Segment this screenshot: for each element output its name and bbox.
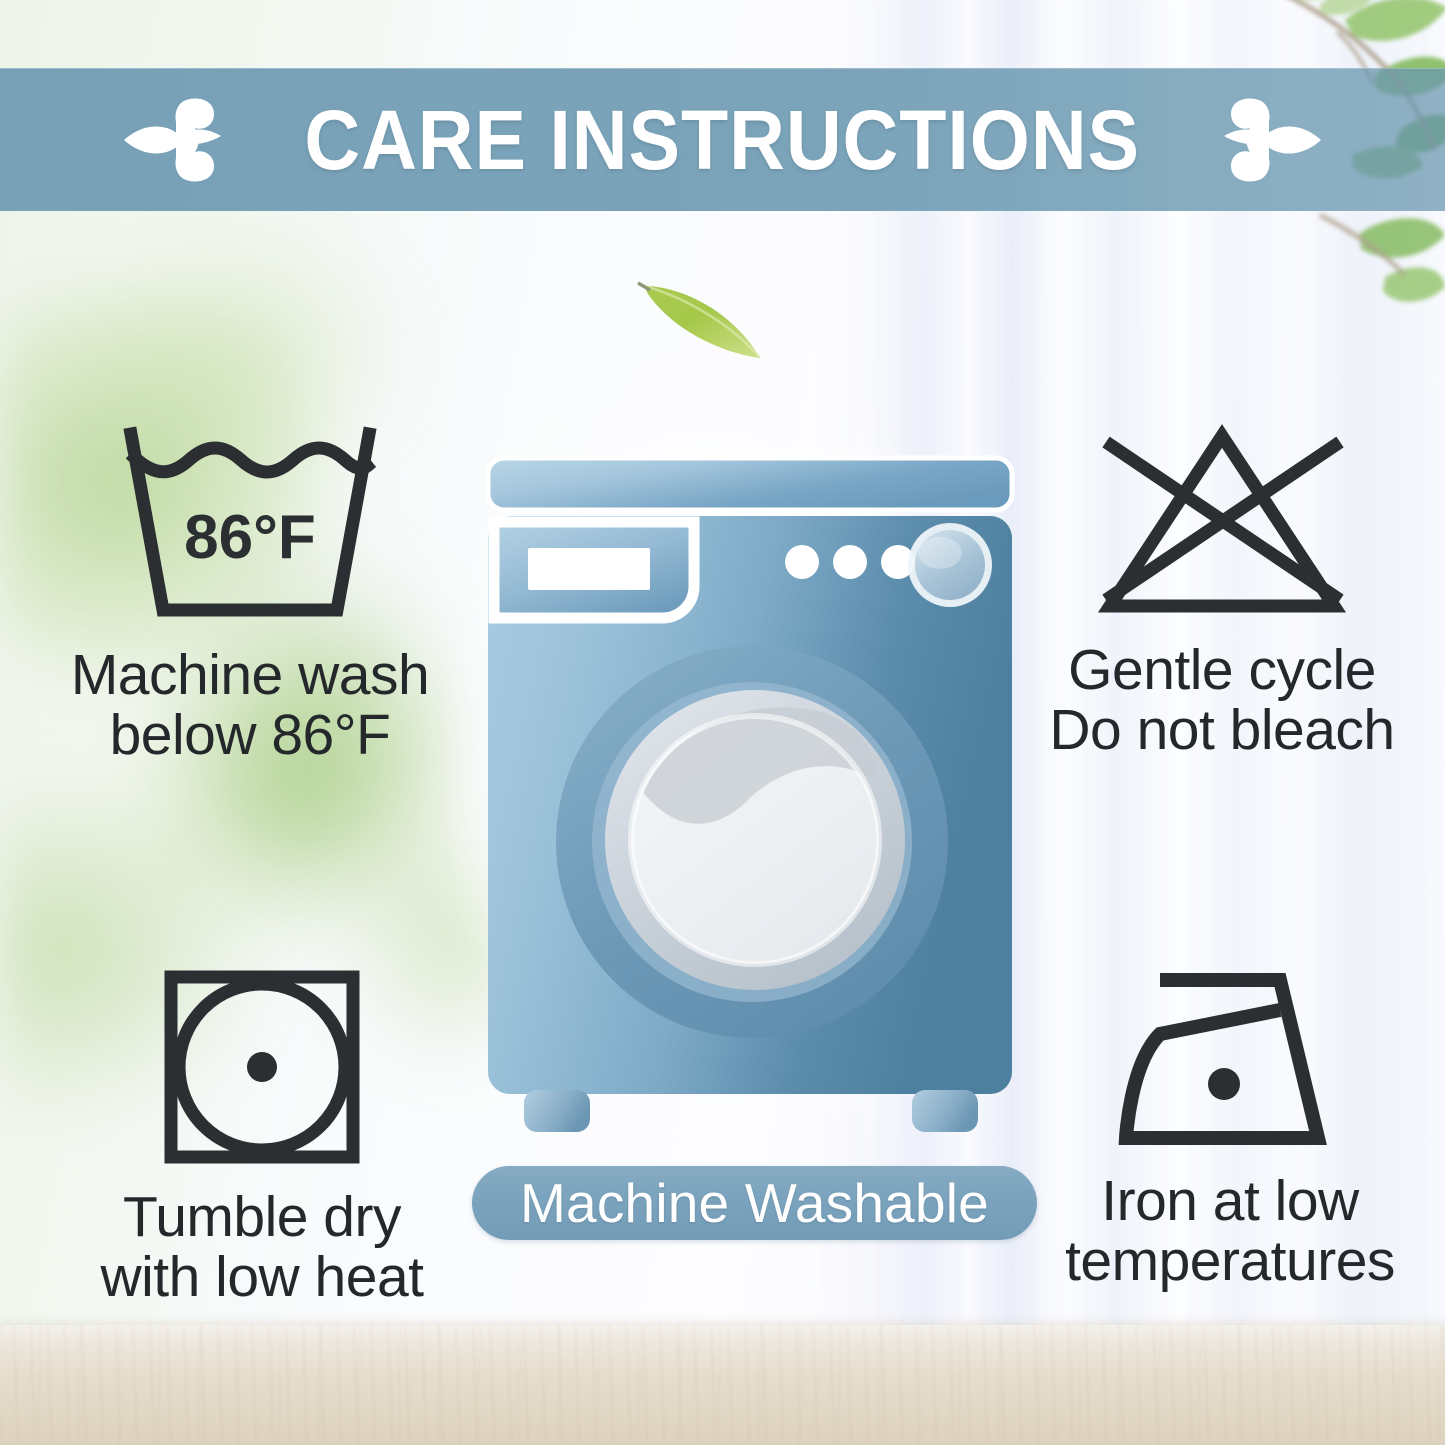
iron-icon xyxy=(1112,968,1348,1155)
leafy-branch-lower-icon xyxy=(1265,195,1445,315)
fleur-de-lis-ornament-right-icon xyxy=(1203,94,1323,186)
care-instructions-infographic: CARE INSTRUCTIONS xyxy=(0,0,1445,1445)
wash-temperature-value: 86°F xyxy=(184,503,316,572)
detergent-drawer-handle xyxy=(528,548,650,590)
wash-tub-icon: 86°F xyxy=(119,424,381,629)
care-icon-iron: Iron at low temperatures xyxy=(1020,968,1440,1292)
care-icon-tumble-dry: Tumble dry with low heat xyxy=(52,968,472,1308)
no-bleach-triangle-icon xyxy=(1096,424,1348,624)
wood-grain-texture xyxy=(0,1325,1445,1445)
page-title: CARE INSTRUCTIONS xyxy=(305,98,1141,182)
header-banner: CARE INSTRUCTIONS xyxy=(0,68,1445,211)
care-icon-caption: Machine wash below 86°F xyxy=(71,645,429,766)
care-icon-machine-wash: 86°F Machine wash below 86°F xyxy=(30,424,470,766)
care-icon-caption: Gentle cycle Do not bleach xyxy=(1049,640,1394,761)
indicator-light xyxy=(833,545,867,579)
indicator-light xyxy=(785,545,819,579)
machine-washable-badge: Machine Washable xyxy=(472,1166,1037,1240)
washer-top-lid xyxy=(488,458,1012,510)
washer-foot-right xyxy=(912,1090,978,1132)
tumble-dry-icon xyxy=(162,968,362,1171)
care-icon-caption: Tumble dry with low heat xyxy=(100,1187,423,1308)
green-leaf-icon xyxy=(636,270,776,365)
care-icon-no-bleach: Gentle cycle Do not bleach xyxy=(1012,424,1432,761)
washer-foot-left xyxy=(524,1090,590,1132)
machine-washable-badge-label: Machine Washable xyxy=(520,1176,989,1231)
control-dial-highlight xyxy=(918,537,962,569)
washing-machine-illustration xyxy=(480,452,1020,1144)
care-icon-caption: Iron at low temperatures xyxy=(1065,1171,1395,1292)
fleur-de-lis-ornament-left-icon xyxy=(122,94,242,186)
